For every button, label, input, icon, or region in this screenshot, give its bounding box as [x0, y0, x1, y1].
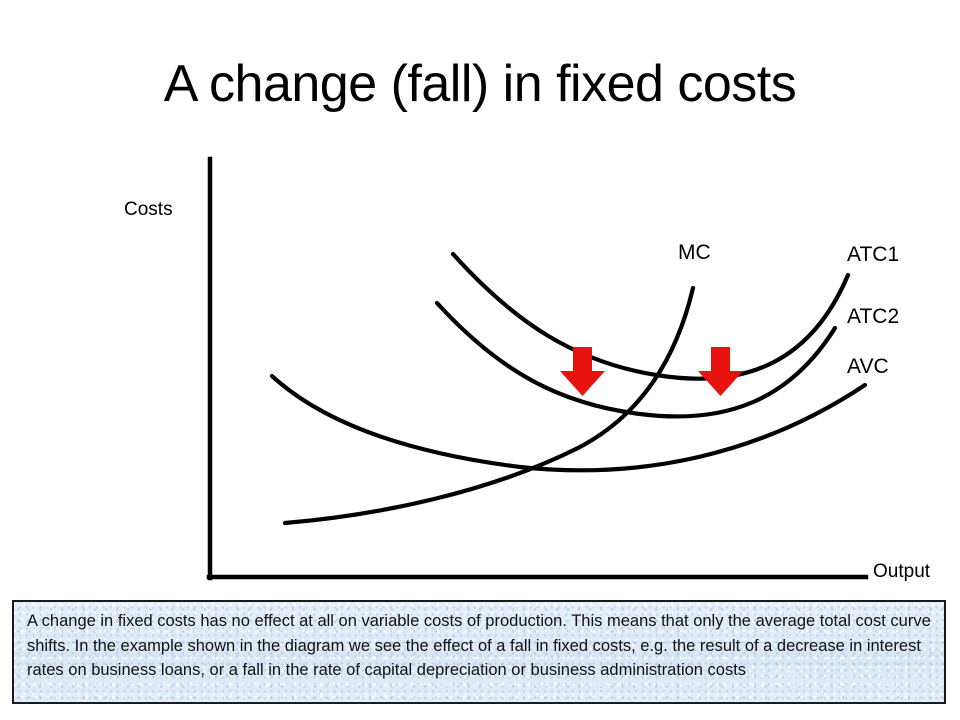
- shift-arrow-right: [698, 347, 743, 396]
- explanation-note-text: A change in fixed costs has no effect at…: [27, 609, 931, 683]
- explanation-note-box: A change in fixed costs has no effect at…: [12, 600, 946, 704]
- atc1-curve-label: ATC1: [847, 243, 899, 267]
- axes-group: [209, 159, 866, 578]
- avc-curve-label: AVC: [847, 355, 889, 379]
- mc-curve: [285, 288, 693, 523]
- slide-root: A change (fall) in fixed costs Costs Out…: [0, 0, 960, 720]
- y-axis-label: Costs: [124, 199, 173, 221]
- cost-curves-diagram: [0, 0, 960, 600]
- mc-curve-label: MC: [678, 241, 711, 265]
- atc1-curve: [453, 254, 848, 379]
- atc2-curve-label: ATC2: [847, 305, 899, 329]
- x-axis-label: Output: [873, 561, 930, 583]
- shift-arrow-left: [560, 347, 605, 396]
